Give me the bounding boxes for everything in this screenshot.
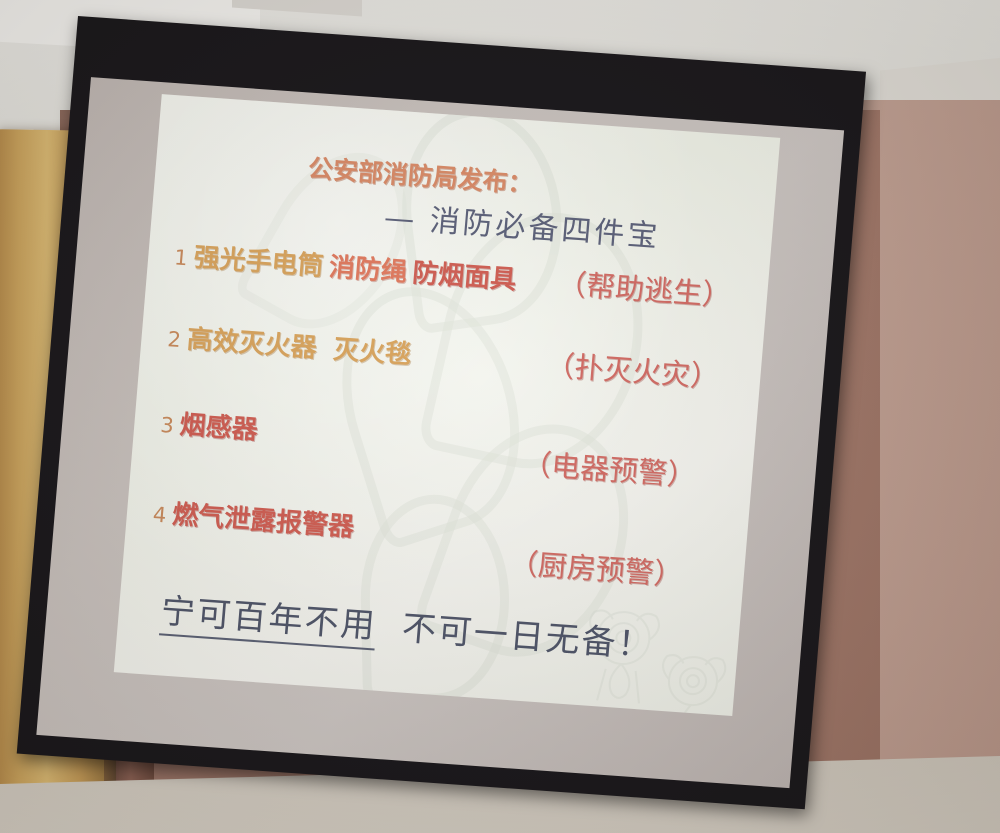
slide-note-4: （厨房预警） [508,540,685,594]
list-number: 1 [173,245,188,270]
list-number: 2 [167,327,182,352]
list-main-text: 烟感器 [179,410,259,445]
slide-note-3: （电器预警） [521,441,698,495]
list-main-text: 强光手电筒 [192,243,324,282]
projection-screen-assembly: 公安部消防局发布： — 消防必备四件宝 1强光手电筒 消防绳 防烟面具 （帮助逃… [13,16,876,833]
list-number: 4 [152,503,167,528]
slide-list-item-2: 2高效灭火器 灭火毯 [166,317,413,371]
note-text: （帮助逃生） [556,267,732,313]
slide-list-item-1: 1强光手电筒 消防绳 防烟面具 [173,235,518,296]
list-main-text: 燃气泄露报警器 [171,500,355,543]
motto-rest: 不可一日无备！ [400,608,655,666]
note-text: （扑灭火灾） [544,348,720,394]
slide-note-1: （帮助逃生） [556,261,733,315]
list-third-text: 防烟面具 [411,258,517,295]
slide-note-2: （扑灭火灾） [544,342,721,396]
note-text: （厨房预警） [508,546,684,592]
motto-underlined: 宁可百年不用 [159,591,378,650]
note-text: （电器预警） [521,447,697,493]
projected-slide: 公安部消防局发布： — 消防必备四件宝 1强光手电筒 消防绳 防烟面具 （帮助逃… [114,94,780,716]
list-second-text: 灭火毯 [332,335,412,370]
list-number: 3 [159,413,174,438]
list-main-text: 高效灭火器 [186,325,318,364]
list-second-text: 消防绳 [328,252,408,287]
slide-list-item-3: 3烟感器 [159,403,259,447]
slide-title: 公安部消防局发布： [307,149,534,201]
slide-list-item-4: 4燃气泄露报警器 [152,493,356,544]
slide-subtitle: — 消防必备四件宝 [383,192,663,255]
slide-motto: 宁可百年不用 不可一日无备！ [159,583,655,667]
room-photo-scene: 公安部消防局发布： — 消防必备四件宝 1强光手电筒 消防绳 防烟面具 （帮助逃… [0,0,1000,833]
